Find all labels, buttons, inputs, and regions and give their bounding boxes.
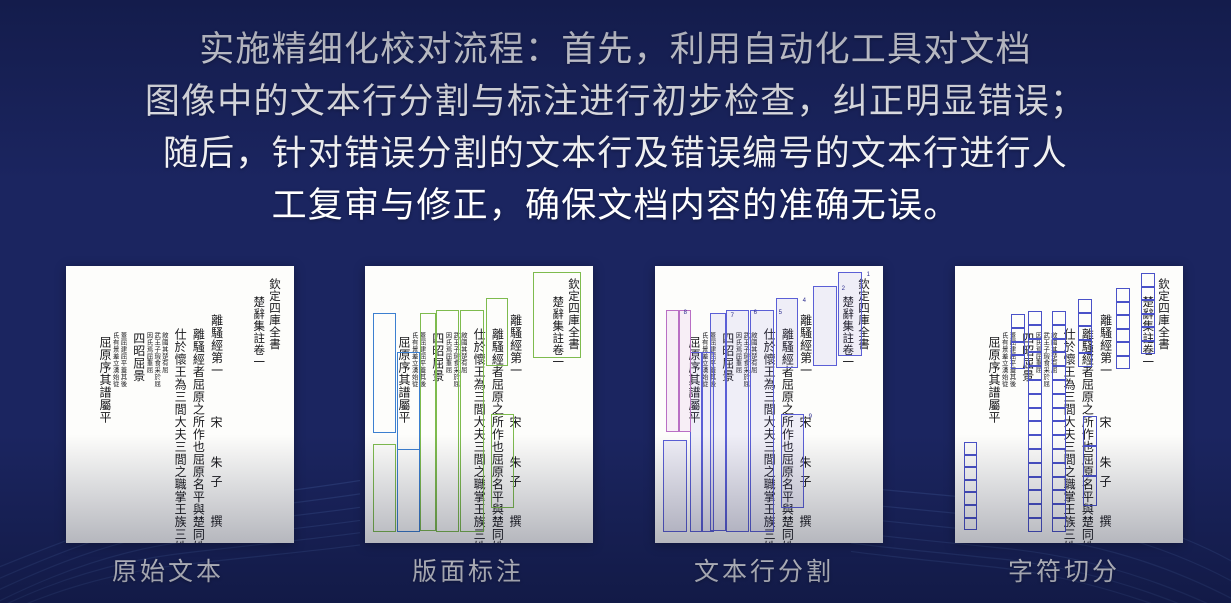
character-box — [1028, 325, 1042, 339]
doc-note-column-2: 武王子瑕食采於屈 — [1042, 332, 1049, 387]
doc-note-column-2: 武王子瑕食采於屈 — [452, 332, 459, 387]
slide-headline: 实施精细化校对流程：首先，利用自动化工具对文档 图像中的文本行分割与标注进行初步… — [0, 24, 1231, 232]
doc-note-column-5: 氏有景差立漢始從 — [112, 332, 119, 387]
doc-body-column-3: 四昭屈景 — [431, 332, 443, 382]
doc-note-column-1: 敘國其楚有屈 — [161, 332, 168, 387]
caption-layout-annotation: 版面标注 — [354, 552, 582, 588]
character-box — [1028, 449, 1042, 463]
doc-section-heading: 離騷經第一 — [1099, 314, 1111, 377]
doc-note-column-1: 敘國其楚有屈 — [750, 332, 757, 387]
character-box — [1116, 302, 1130, 316]
doc-section-heading: 離騷經第一 — [210, 314, 222, 377]
doc-note-pair-1: 敘國其楚有屈 武王子瑕食采於屈 因氏焉屈重屈 — [145, 332, 168, 387]
character-box — [1028, 380, 1042, 394]
caption-original-text: 原始文本 — [54, 552, 282, 588]
character-box — [1052, 449, 1066, 463]
doc-body-column-1: 離騷經者屈原之所作也屈原名平與楚同姓 — [491, 328, 503, 543]
doc-title-column-2: 楚辭集註卷一 — [842, 296, 854, 368]
character-box — [1116, 288, 1130, 302]
doc-note-column-4: 蓋屈建屈平蓋其後 — [419, 332, 426, 387]
doc-body-column-4: 屈原序其譜屬平 — [688, 336, 700, 424]
doc-note-column-5: 氏有景差立漢始從 — [1001, 332, 1008, 387]
panel-layout-annotation[interactable]: 欽定四庫全書 楚辭集註卷一 離騷經第一 離騷經者屈原之所作也屈原名平與楚同姓 仕… — [365, 266, 593, 543]
character-box — [1011, 355, 1025, 369]
character-box — [1141, 314, 1155, 328]
character-box — [1052, 325, 1066, 339]
doc-note-column-5: 氏有景差立漢始從 — [411, 332, 418, 387]
character-box — [964, 518, 977, 531]
doc-title-column-1: 欽定四庫全書 — [857, 278, 869, 350]
document-page: 欽定四庫全書 楚辭集註卷一 離騷經第一 離騷經者屈原之所作也屈原名平與楚同姓 仕… — [955, 266, 1183, 543]
character-box — [1083, 416, 1097, 446]
doc-body-column-4: 屈原序其譜屬平 — [988, 336, 1000, 424]
doc-note-column-3: 因氏焉屈重屈 — [735, 332, 742, 387]
character-box — [1028, 339, 1042, 353]
character-box-column — [1028, 311, 1042, 532]
headline-line-2: 图像中的文本行分割与标注进行初步检查，纠正明显错误； — [96, 76, 1135, 128]
character-box — [1052, 463, 1066, 477]
document-columns: 欽定四庫全書 楚辭集註卷一 離騷經第一 離騷經者屈原之所作也屈原名平與楚同姓 仕… — [373, 274, 583, 537]
character-box — [1116, 342, 1130, 356]
caption-text-line-segmentation: 文本行分割 — [650, 552, 878, 588]
doc-note-column-3: 因氏焉屈重屈 — [445, 332, 452, 387]
character-box — [1011, 328, 1025, 342]
doc-note-pair-2: 蓋屈建屈平蓋其後 氏有景差立漢始從 — [410, 332, 425, 387]
doc-note-pair-2: 蓋屈建屈平蓋其後 氏有景差立漢始從 — [111, 332, 126, 387]
character-box — [964, 480, 977, 493]
character-box — [964, 467, 977, 480]
document-page: 欽定四庫全書 楚辭集註卷一 離騷經第一 離騷經者屈原之所作也屈原名平與楚同姓 仕… — [655, 266, 883, 543]
doc-body-column-3: 四昭屈景 — [132, 332, 144, 382]
character-box — [1052, 352, 1066, 366]
doc-author-column: 宋 朱子 撰 — [210, 416, 222, 534]
character-box — [1028, 311, 1042, 325]
character-box — [1028, 394, 1042, 408]
character-box — [1052, 490, 1066, 504]
character-box — [1078, 353, 1092, 367]
character-box — [1011, 342, 1025, 356]
character-box-column — [1078, 299, 1092, 367]
doc-author-column: 宋 朱子 撰 — [799, 416, 811, 534]
panel-text-line-segmentation[interactable]: 欽定四庫全書 楚辭集註卷一 離騷經第一 離騷經者屈原之所作也屈原名平與楚同姓 仕… — [655, 266, 883, 543]
doc-body-column-1: 離騷經者屈原之所作也屈原名平與楚同姓 — [192, 328, 204, 543]
doc-body-column-1: 離騷經者屈原之所作也屈原名平與楚同姓 — [781, 328, 793, 543]
character-box — [1052, 339, 1066, 353]
character-box — [1141, 341, 1155, 355]
character-box — [1083, 476, 1097, 506]
doc-note-column-1: 敘國其楚有屈 — [460, 332, 467, 387]
character-box — [1028, 352, 1042, 366]
doc-note-column-4: 蓋屈建屈平蓋其後 — [709, 332, 716, 387]
doc-note-column-5: 氏有景差立漢始從 — [701, 332, 708, 387]
panel-original-text[interactable]: 欽定四庫全書 楚辭集註卷一 離騷經第一 離騷經者屈原之所作也屈原名平與楚同姓 仕… — [66, 266, 294, 543]
character-box — [1116, 356, 1130, 370]
character-box-column — [1116, 288, 1130, 369]
character-box — [1011, 314, 1025, 328]
doc-note-pair-1: 敘國其楚有屈 武王子瑕食采於屈 因氏焉屈重屈 — [444, 332, 467, 387]
character-box — [1028, 435, 1042, 449]
character-box — [964, 442, 977, 455]
character-box — [1028, 504, 1042, 518]
character-box — [1052, 435, 1066, 449]
doc-title-column-2: 楚辭集註卷一 — [253, 296, 265, 368]
doc-body-column-3: 四昭屈景 — [721, 332, 733, 382]
character-box-column — [1011, 314, 1025, 369]
character-box — [1141, 273, 1155, 287]
doc-title-column-2: 楚辭集註卷一 — [552, 296, 564, 368]
character-box — [1028, 421, 1042, 435]
character-box — [1028, 463, 1042, 477]
caption-row: 原始文本 版面标注 文本行分割 字符切分 — [0, 552, 1231, 596]
doc-section-heading: 離騷經第一 — [509, 314, 521, 377]
panel-row: 欽定四庫全書 楚辭集註卷一 離騷經第一 離騷經者屈原之所作也屈原名平與楚同姓 仕… — [0, 266, 1231, 544]
doc-note-pair-1: 敘國其楚有屈 武王子瑕食采於屈 因氏焉屈重屈 — [734, 332, 757, 387]
character-box — [1028, 477, 1042, 491]
character-box — [1052, 504, 1066, 518]
doc-body-column-4: 屈原序其譜屬平 — [398, 336, 410, 424]
character-box — [1052, 477, 1066, 491]
doc-author-column: 宋 朱子 撰 — [1099, 416, 1111, 534]
doc-author-column: 宋 朱子 撰 — [509, 416, 521, 534]
doc-body-column-2: 仕於懷王為三閭大夫三閭之職掌王族三姓 — [473, 328, 485, 543]
caption-character-segmentation: 字符切分 — [950, 552, 1178, 588]
character-box — [1078, 326, 1092, 340]
character-box — [1083, 446, 1097, 476]
character-box — [964, 492, 977, 505]
slide-root: 实施精细化校对流程：首先，利用自动化工具对文档 图像中的文本行分割与标注进行初步… — [0, 0, 1231, 603]
headline-line-3: 随后，针对错误分割的文本行及错误编号的文本行进行人 — [96, 128, 1135, 180]
character-box — [964, 505, 977, 518]
doc-note-pair-2: 蓋屈建屈平蓋其後 氏有景差立漢始從 — [700, 332, 715, 387]
headline-line-1: 实施精细化校对流程：首先，利用自动化工具对文档 — [96, 24, 1135, 76]
character-box — [1052, 366, 1066, 380]
character-box — [1052, 518, 1066, 532]
character-box — [1028, 518, 1042, 532]
document-columns: 欽定四庫全書 楚辭集註卷一 離騷經第一 離騷經者屈原之所作也屈原名平與楚同姓 仕… — [74, 274, 284, 537]
doc-body-column-2: 仕於懷王為三閭大夫三閭之職掌王族三姓 — [174, 328, 186, 543]
character-box — [1116, 315, 1130, 329]
document-page: 欽定四庫全書 楚辭集註卷一 離騷經第一 離騷經者屈原之所作也屈原名平與楚同姓 仕… — [365, 266, 593, 543]
character-box — [1052, 408, 1066, 422]
character-box-column — [1052, 311, 1066, 532]
character-box — [1078, 340, 1092, 354]
doc-title-column-1: 欽定四庫全書 — [268, 278, 280, 350]
doc-note-column-3: 因氏焉屈重屈 — [146, 332, 153, 387]
character-box — [1028, 408, 1042, 422]
character-box-column — [1141, 273, 1155, 354]
headline-line-4: 工复审与修正，确保文档内容的准确无误。 — [96, 180, 1135, 232]
character-box-column — [964, 442, 977, 530]
character-box — [1028, 366, 1042, 380]
character-box — [1116, 329, 1130, 343]
character-box — [1078, 299, 1092, 313]
character-box — [964, 455, 977, 468]
character-box — [1141, 327, 1155, 341]
document-columns: 欽定四庫全書 楚辭集註卷一 離騷經第一 離騷經者屈原之所作也屈原名平與楚同姓 仕… — [663, 274, 873, 537]
panel-character-segmentation[interactable]: 欽定四庫全書 楚辭集註卷一 離騷經第一 離騷經者屈原之所作也屈原名平與楚同姓 仕… — [955, 266, 1183, 543]
character-box — [1028, 490, 1042, 504]
doc-section-heading: 離騷經第一 — [799, 314, 811, 377]
doc-note-column-2: 武王子瑕食采於屈 — [153, 332, 160, 387]
character-box-column — [1083, 416, 1097, 506]
character-box — [1141, 300, 1155, 314]
doc-note-column-4: 蓋屈建屈平蓋其後 — [120, 332, 127, 387]
character-box — [1141, 287, 1155, 301]
character-box — [1052, 380, 1066, 394]
character-box — [1052, 421, 1066, 435]
doc-title-column-1: 欽定四庫全書 — [567, 278, 579, 350]
character-box — [1052, 311, 1066, 325]
doc-note-column-2: 武王子瑕食采於屈 — [742, 332, 749, 387]
doc-body-column-4: 屈原序其譜屬平 — [99, 336, 111, 424]
doc-title-column-1: 欽定四庫全書 — [1157, 278, 1169, 350]
document-page: 欽定四庫全書 楚辭集註卷一 離騷經第一 離騷經者屈原之所作也屈原名平與楚同姓 仕… — [66, 266, 294, 543]
character-box — [1078, 313, 1092, 327]
doc-body-column-2: 仕於懷王為三閭大夫三閭之職掌王族三姓 — [763, 328, 775, 543]
character-box — [1052, 394, 1066, 408]
